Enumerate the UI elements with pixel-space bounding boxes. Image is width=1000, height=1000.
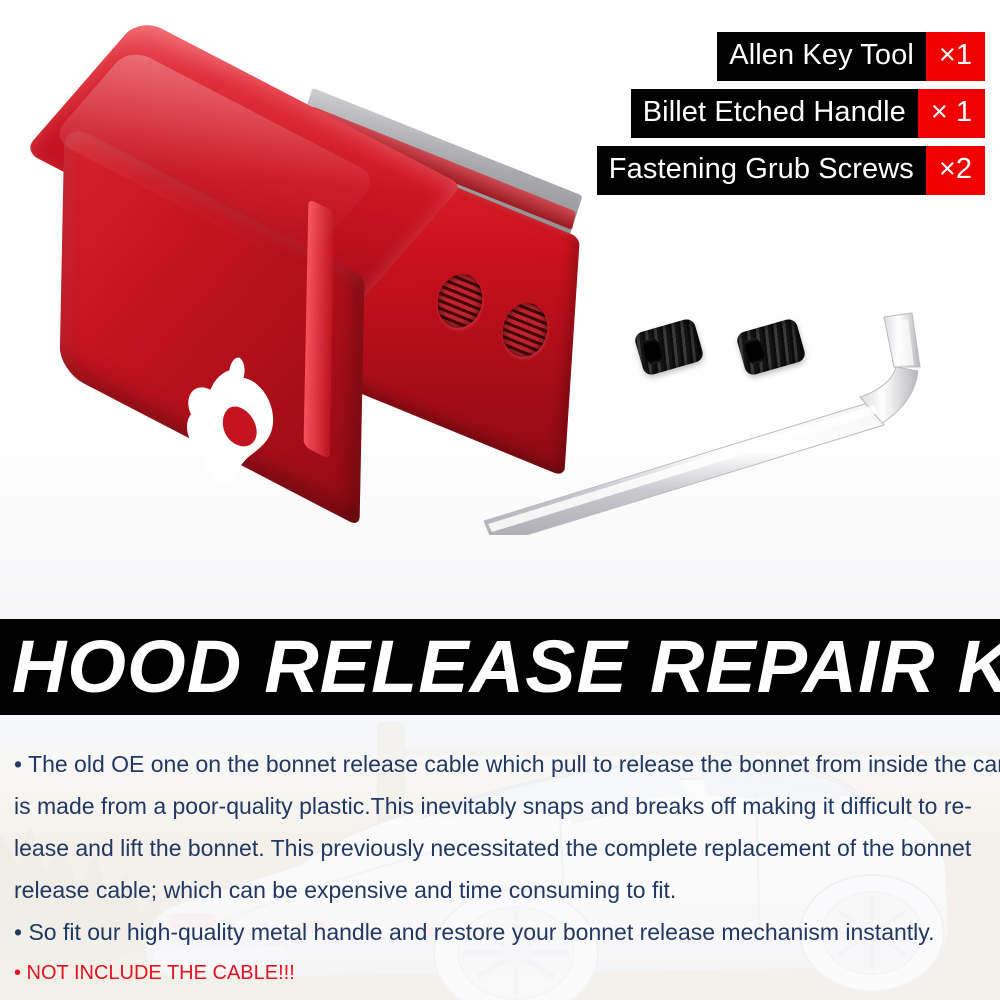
spec-label: Allen Key Tool [717,32,926,81]
description-line: • So fit our high-quality metal handle a… [14,911,1000,953]
spec-label: Billet Etched Handle [631,89,918,138]
spec-qty-badge: ×2 [926,146,985,195]
spec-label: Fastening Grub Screws [597,146,926,195]
allen-key [470,305,940,535]
warning-note: • NOT INCLUDE THE CABLE!!! [14,953,1000,993]
product-photo-area: Allen Key Tool ×1 Billet Etched Handle ×… [0,0,1000,619]
spec-row-billet-handle: Billet Etched Handle × 1 [631,89,985,138]
spec-list: Allen Key Tool ×1 Billet Etched Handle ×… [597,32,985,195]
description-line: lease and lift the bonnet. This previous… [14,827,1000,869]
spec-qty-badge: × 1 [918,89,985,138]
description-line: • The old OE one on the bonnet release c… [14,743,1000,785]
spec-row-allen-key: Allen Key Tool ×1 [717,32,985,81]
description-line: release cable; which can be expensive an… [14,869,1000,911]
spec-row-grub-screws: Fastening Grub Screws ×2 [597,146,985,195]
title-band: HOOD RELEASE REPAIR KIT [0,619,1000,715]
handle-front-bevel [304,198,335,459]
product-marketing-image: Allen Key Tool ×1 Billet Etched Handle ×… [0,0,1000,1000]
description-line: is made from a poor-quality plastic.This… [14,785,1000,827]
description-text: • The old OE one on the bonnet release c… [14,743,1000,993]
page-title: HOOD RELEASE REPAIR KIT [0,630,1000,704]
description-panel: • The old OE one on the bonnet release c… [0,715,1000,1000]
spec-qty-badge: ×1 [926,32,985,81]
